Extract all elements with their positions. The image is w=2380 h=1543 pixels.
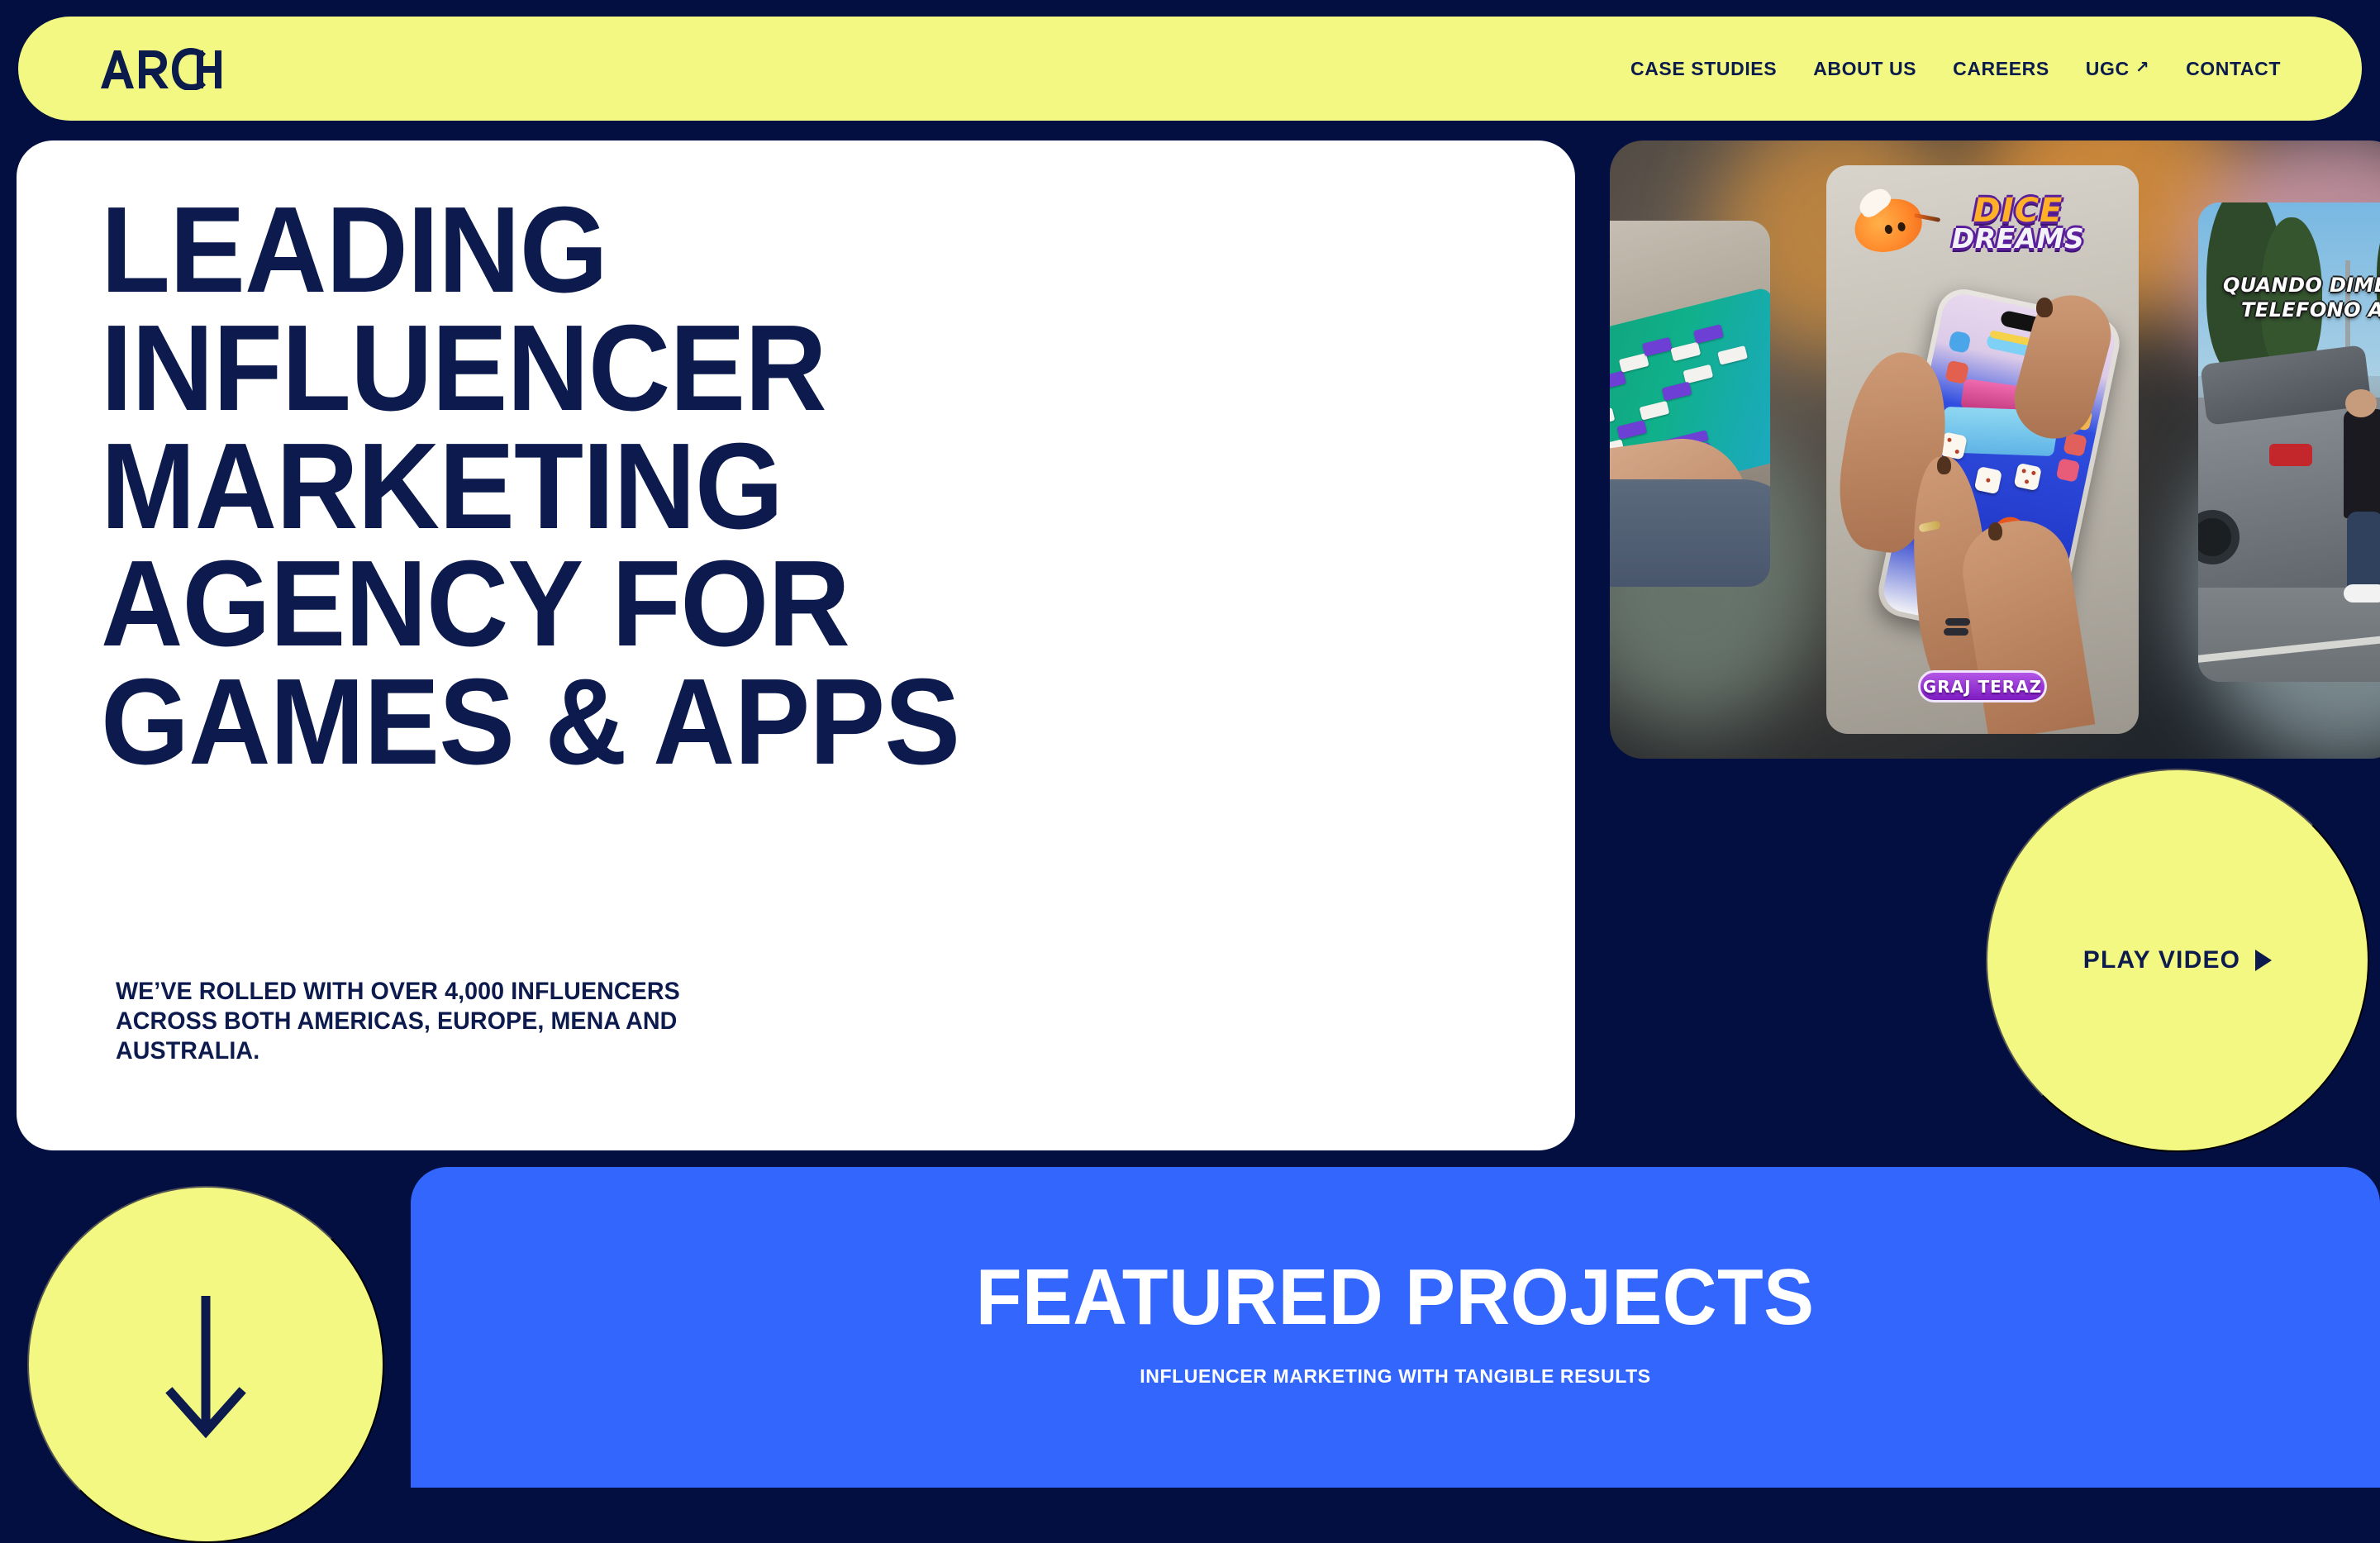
fingernail: [1937, 456, 1951, 474]
nav-link-ugc-label: UGC: [2086, 58, 2130, 80]
ugc-caption-overlay: QUANDO DIMENTICHI I TELEFONO A CASA:: [2198, 274, 2380, 323]
play-video-button[interactable]: PLAY VIDEO: [1986, 769, 2369, 1152]
sneaker: [2344, 584, 2380, 602]
brand-logo[interactable]: ARCH.: [99, 47, 223, 90]
ring: [1944, 628, 1968, 636]
dice-dreams-bird-mascot-icon: [1850, 194, 1926, 258]
nav-link-contact[interactable]: CONTACT: [2168, 58, 2299, 80]
jeans-background: [1610, 479, 1770, 587]
hero-subtext-line-1: WE’VE ROLLED WITH OVER 4,000 INFLUENCERS: [116, 977, 805, 1007]
hero-card: LEADING INFLUENCER MARKETING AGENCY FOR …: [17, 140, 1575, 1150]
headline-line-4: AGENCY FOR: [101, 545, 1407, 664]
graj-teraz-cta-button[interactable]: GRAJ TERAZ: [1918, 670, 2047, 702]
hero-subtext: WE’VE ROLLED WITH OVER 4,000 INFLUENCERS…: [116, 977, 805, 1066]
media-showreel-panel[interactable]: DICE DREAMS: [1610, 140, 2380, 759]
dice-dreams-logo: DICE DREAMS: [1944, 196, 2092, 251]
person-one: [2344, 409, 2380, 518]
tail-light: [2269, 444, 2312, 466]
nav-link-about-us[interactable]: ABOUT US: [1795, 58, 1935, 80]
headline-line-1: LEADING: [101, 192, 1407, 310]
hero-subtext-line-3: AUSTRALIA.: [116, 1036, 805, 1066]
nav-link-contact-label: CONTACT: [2186, 58, 2281, 80]
headline-line-5: GAMES & APPS: [101, 664, 1407, 782]
nav-link-careers[interactable]: CAREERS: [1935, 58, 2068, 80]
featured-projects-subtitle: INFLUENCER MARKETING WITH TANGIBLE RESUL…: [1140, 1337, 1650, 1388]
ugc-caption-line-2: TELEFONO A CASA:: [2198, 298, 2380, 323]
headline-line-2: INFLUENCER: [101, 310, 1407, 428]
ring: [1945, 618, 1970, 626]
video-card-domino[interactable]: [1610, 221, 1770, 587]
nav-link-careers-label: CAREERS: [1953, 58, 2049, 80]
ugc-caption-line-1: QUANDO DIMENTICHI I: [2198, 274, 2380, 298]
page-root: ARCH. CASE STUDIES ABOUT US CAREERS UGC …: [0, 0, 2380, 1488]
fingernail: [1988, 522, 2002, 541]
hero-subtext-line-2: ACROSS BOTH AMERICAS, EUROPE, MENA AND: [116, 1007, 805, 1036]
video-card-dice-dreams[interactable]: DICE DREAMS: [1826, 165, 2139, 734]
scroll-down-button[interactable]: [27, 1186, 384, 1543]
headline-line-3: MARKETING: [101, 428, 1407, 546]
car-wheel: [2198, 510, 2240, 564]
nav-link-ugc[interactable]: UGC ↗: [2068, 58, 2168, 80]
fingernail: [2036, 298, 2053, 317]
person-one-head: [2345, 389, 2377, 417]
nav-link-case-studies[interactable]: CASE STUDIES: [1612, 58, 1795, 80]
video-card-ugc[interactable]: QUANDO DIMENTICHI I TELEFONO A CASA:: [2198, 202, 2380, 682]
nav-link-about-us-label: ABOUT US: [1813, 58, 1916, 80]
play-triangle-icon: [2255, 950, 2272, 971]
featured-projects-title: FEATURED PROJECTS: [976, 1167, 1815, 1337]
nav-link-case-studies-label: CASE STUDIES: [1630, 58, 1777, 80]
nav-links: CASE STUDIES ABOUT US CAREERS UGC ↗ CONT…: [1612, 58, 2299, 80]
top-navigation-bar: ARCH. CASE STUDIES ABOUT US CAREERS UGC …: [18, 17, 2362, 121]
person-one-jeans: [2347, 512, 2380, 589]
page-title: LEADING INFLUENCER MARKETING AGENCY FOR …: [101, 192, 1407, 782]
arrow-up-right-icon: ↗: [2135, 60, 2149, 76]
featured-projects-section: FEATURED PROJECTS INFLUENCER MARKETING W…: [411, 1167, 2380, 1488]
dice-dreams-logo-line2: DREAMS: [1944, 226, 2092, 251]
play-video-label: PLAY VIDEO: [2083, 946, 2240, 974]
arrow-down-icon: [157, 1291, 255, 1438]
arch-wordmark-icon: [99, 47, 223, 90]
